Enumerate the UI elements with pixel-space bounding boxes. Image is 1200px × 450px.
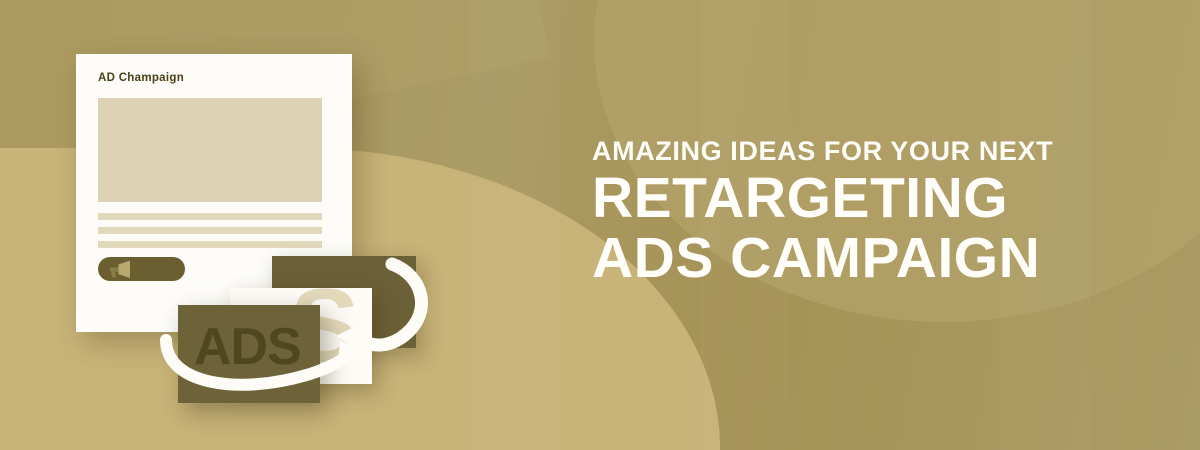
mockup-cta-button xyxy=(98,257,185,281)
mockup-text-bar xyxy=(98,227,322,234)
ad-creative-placeholder xyxy=(98,98,322,202)
mockup-text-bar xyxy=(98,213,322,220)
headline-block: AMAZING IDEAS FOR YOUR NEXT RETARGETING … xyxy=(592,138,1152,287)
megaphone-icon xyxy=(108,260,136,278)
eyebrow-text: AMAZING IDEAS FOR YOUR NEXT xyxy=(592,138,1152,165)
front-ads-box: ADS xyxy=(178,305,320,403)
artwork-group: AD Champaign S ADS xyxy=(0,0,470,450)
headline-line-1: RETARGETING xyxy=(592,171,1152,227)
mockup-text-bar xyxy=(98,241,322,248)
retargeting-ads-banner: AD Champaign S ADS xyxy=(0,0,1200,450)
background-stripe-1 xyxy=(470,0,560,450)
ads-wordmark: ADS xyxy=(194,321,301,373)
headline-line-2: ADS CAMPAIGN xyxy=(592,231,1152,287)
mockup-card-title: AD Champaign xyxy=(98,72,184,84)
